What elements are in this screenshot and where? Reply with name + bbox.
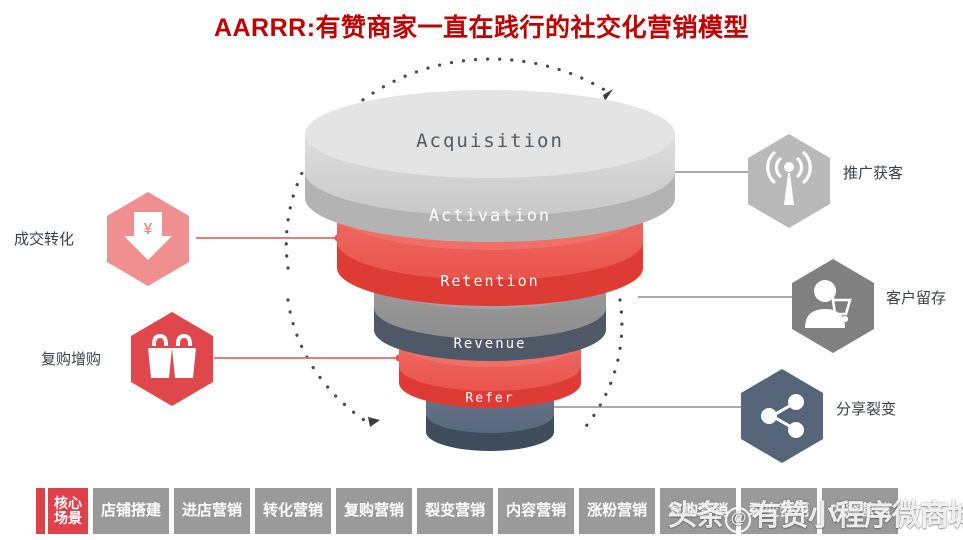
tag-item[interactable]: 店铺搭建 <box>93 488 169 534</box>
tag-item[interactable]: 裂变营销 <box>417 488 493 534</box>
funnel-label-refer: Refer <box>415 391 565 406</box>
tag-item[interactable]: 内容营销 <box>822 488 898 534</box>
tag-item[interactable]: 复购营销 <box>660 488 736 534</box>
cycle-arrowhead-top <box>603 89 613 101</box>
right-node-2[interactable] <box>792 259 874 353</box>
tag-bar: 核心 场景 店铺搭建 进店营销 转化营销 复购营销 裂变营销 内容营销 涨粉营销… <box>36 488 903 534</box>
funnel-label-revenue: Revenue <box>390 336 590 352</box>
svg-text:¥: ¥ <box>144 221 153 238</box>
cycle-arrowhead-bottom <box>368 417 380 427</box>
tag-core-scene[interactable]: 核心 场景 <box>48 488 88 534</box>
tag-item[interactable]: 进店营销 <box>174 488 250 534</box>
diagram-canvas: AARRR:有赞商家一直在践行的社交化营销模型 <box>0 0 963 540</box>
funnel-label-acquisition: Acquisition <box>340 130 640 152</box>
right-node-1[interactable] <box>748 134 830 228</box>
diagram-graphics: ¥ <box>0 0 963 540</box>
tag-item[interactable]: 涨粉营销 <box>579 488 655 534</box>
left-node-2[interactable] <box>131 312 213 406</box>
right-node-label-2: 客户留存 <box>886 287 946 308</box>
left-node-label-2: 复购增购 <box>41 348 101 369</box>
right-node-label-1: 推广获客 <box>843 162 903 183</box>
tag-item[interactable]: 内容营销 <box>498 488 574 534</box>
left-node-1[interactable]: ¥ <box>107 192 189 286</box>
tag-item[interactable]: 裂变营销 <box>741 488 817 534</box>
funnel-label-activation: Activation <box>340 206 640 226</box>
left-node-label-1: 成交转化 <box>14 228 74 249</box>
tag-item[interactable]: 复购营销 <box>336 488 412 534</box>
right-node-3[interactable] <box>741 369 823 463</box>
tag-item[interactable]: 转化营销 <box>255 488 331 534</box>
funnel-label-retention: Retention <box>365 272 615 290</box>
tag-bar-accent <box>36 488 45 534</box>
right-node-label-3: 分享裂变 <box>836 398 896 419</box>
